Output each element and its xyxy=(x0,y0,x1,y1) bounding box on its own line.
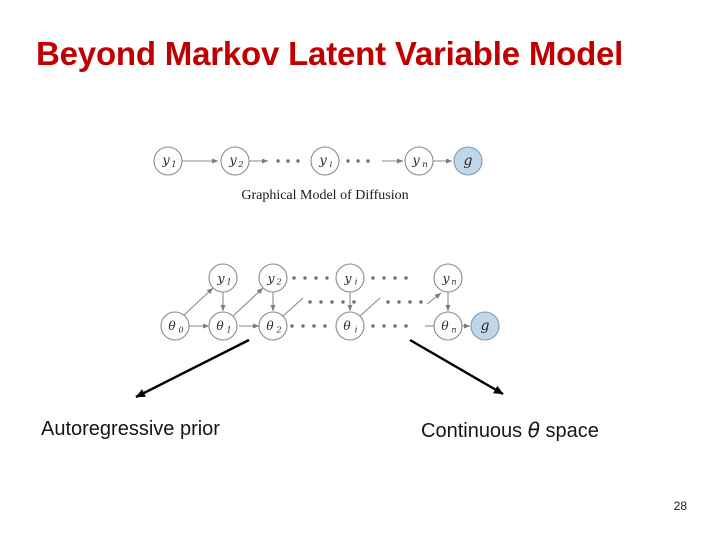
page-title: Beyond Markov Latent Variable Model xyxy=(36,36,696,72)
slide-canvas: Beyond Markov Latent Variable Model xyxy=(0,0,720,540)
ar-vertical-edges xyxy=(223,292,448,311)
svg-text:1: 1 xyxy=(226,278,231,287)
svg-text:θ: θ xyxy=(441,319,449,333)
ar-node-y2: y 2 xyxy=(259,264,287,292)
svg-text:i: i xyxy=(355,278,358,287)
chain-ellipsis-right xyxy=(346,159,369,162)
chain-node-yi: y i xyxy=(311,147,339,175)
annotation-label-autoregressive-prior: Autoregressive prior xyxy=(41,418,220,441)
svg-text:θ: θ xyxy=(343,319,351,333)
svg-text:g: g xyxy=(481,318,490,334)
svg-text:g: g xyxy=(464,153,473,169)
annotation-label-continuous-theta-space: Continuous θ space xyxy=(421,418,599,443)
ar-ellipsis-theta-left xyxy=(290,324,326,327)
chain-node-y2: y 2 xyxy=(221,147,249,175)
continuous-label-prefix: Continuous xyxy=(421,420,528,442)
svg-text:n: n xyxy=(422,160,427,170)
theta-symbol: θ xyxy=(528,418,540,442)
graphical-model-diffusion-diagram: y 1 y 2 y i y n g xyxy=(150,136,500,186)
ar-ellipsis-middle xyxy=(308,300,422,303)
svg-text:y: y xyxy=(411,154,420,169)
svg-text:y: y xyxy=(318,154,327,169)
svg-text:y: y xyxy=(441,271,450,286)
svg-text:2: 2 xyxy=(275,278,281,287)
svg-text:0: 0 xyxy=(178,326,183,335)
ar-node-y1: y 1 xyxy=(209,264,237,292)
ar-ellipsis-theta-right xyxy=(371,324,407,327)
ar-ellipsis-y-right xyxy=(371,276,407,279)
diffusion-diagram-caption: Graphical Model of Diffusion xyxy=(150,188,500,204)
arrow-to-autoregressive-prior xyxy=(136,340,249,397)
chain-node-g: g xyxy=(454,147,482,175)
svg-text:1: 1 xyxy=(171,160,176,170)
svg-text:i: i xyxy=(330,160,333,170)
chain-node-yn: y n xyxy=(405,147,433,175)
svg-text:i: i xyxy=(355,326,358,335)
ar-ellipsis-y-left xyxy=(292,276,328,279)
svg-text:1: 1 xyxy=(226,326,231,335)
svg-text:n: n xyxy=(451,326,456,335)
svg-text:y: y xyxy=(161,154,170,169)
svg-text:n: n xyxy=(451,278,456,287)
ar-node-yn: y n xyxy=(434,264,462,292)
svg-text:y: y xyxy=(266,271,275,286)
chain-node-y1: y 1 xyxy=(154,147,182,175)
continuous-label-suffix: space xyxy=(540,420,599,442)
arrow-to-continuous-theta-space xyxy=(410,340,503,394)
svg-text:θ: θ xyxy=(168,319,176,333)
svg-text:y: y xyxy=(216,271,225,286)
page-number: 28 xyxy=(674,499,687,513)
svg-text:θ: θ xyxy=(266,319,274,333)
chain-ellipsis-left xyxy=(276,159,299,162)
annotation-arrows xyxy=(0,335,720,430)
svg-text:2: 2 xyxy=(275,326,281,335)
svg-text:2: 2 xyxy=(237,160,243,170)
svg-text:y: y xyxy=(228,154,237,169)
svg-text:y: y xyxy=(343,271,352,286)
svg-text:θ: θ xyxy=(216,319,224,333)
ar-node-yi: y i xyxy=(336,264,364,292)
